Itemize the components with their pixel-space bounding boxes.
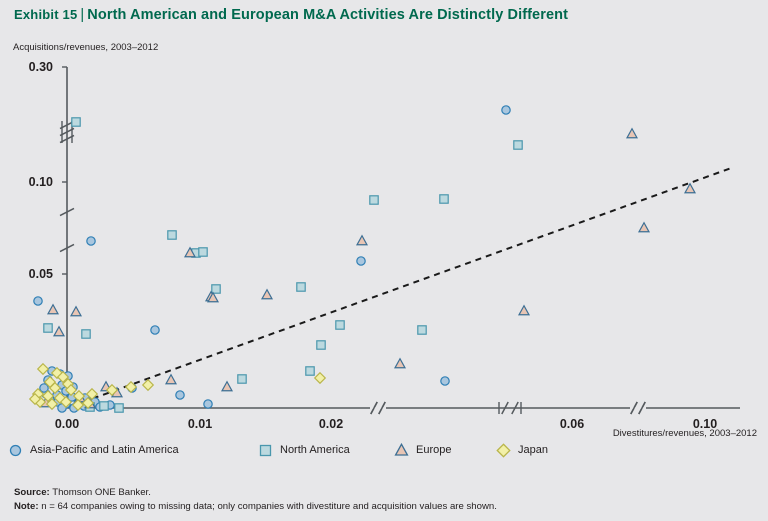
legend-item-northamerica[interactable]: North America xyxy=(258,443,350,458)
legend-marker-circle-icon xyxy=(8,443,23,458)
data-point xyxy=(199,248,207,256)
trendline xyxy=(72,167,734,406)
data-point xyxy=(502,106,510,114)
data-point xyxy=(176,391,184,399)
data-point xyxy=(34,297,42,305)
data-point xyxy=(143,380,154,391)
data-point xyxy=(71,307,81,316)
data-point xyxy=(519,306,529,315)
footnotes: Source: Thomson ONE Banker. Note: n = 64… xyxy=(14,486,497,513)
data-point xyxy=(222,382,232,391)
series-square xyxy=(44,118,522,412)
data-point xyxy=(306,367,314,375)
legend-item-asia[interactable]: Asia-Pacific and Latin America xyxy=(8,443,179,458)
legend-item-europe[interactable]: Europe xyxy=(394,443,451,458)
data-point xyxy=(315,373,326,384)
legend-label: Japan xyxy=(518,445,548,456)
data-point xyxy=(440,195,448,203)
data-point xyxy=(151,326,159,334)
x-axis-break xyxy=(630,402,646,414)
data-point xyxy=(72,118,80,126)
data-point xyxy=(514,141,522,149)
y-tick-label: 0.05 xyxy=(29,267,53,281)
series-triangle xyxy=(41,129,695,408)
data-point xyxy=(48,305,58,314)
data-point xyxy=(100,402,108,410)
data-point xyxy=(395,359,405,368)
data-point xyxy=(115,404,123,412)
x-axis-break xyxy=(370,402,386,414)
legend-label: Europe xyxy=(416,445,451,456)
data-point xyxy=(441,377,449,385)
data-point xyxy=(54,327,64,336)
x-tick-label: 0.00 xyxy=(55,417,79,431)
source-label: Source: xyxy=(14,487,50,498)
data-point xyxy=(639,223,649,232)
x-tick-label: 0.10 xyxy=(693,417,717,431)
data-point xyxy=(418,326,426,334)
legend-label: North America xyxy=(280,445,350,456)
note-label: Note: xyxy=(14,501,39,512)
data-point xyxy=(44,324,52,332)
y-tick-label: 0.30 xyxy=(29,60,53,74)
data-point xyxy=(357,236,367,245)
legend-marker-triangle-icon xyxy=(394,443,409,458)
data-point xyxy=(38,364,49,375)
legend-marker-square-icon xyxy=(258,443,273,458)
x-tick-label: 0.06 xyxy=(560,417,584,431)
data-point xyxy=(627,129,637,138)
y-tick-label: 0.10 xyxy=(29,175,53,189)
legend-marker-diamond-icon xyxy=(496,443,511,458)
data-point xyxy=(82,330,90,338)
data-point xyxy=(336,321,344,329)
source-line: Source: Thomson ONE Banker. xyxy=(14,486,497,500)
data-point xyxy=(204,400,212,408)
note-text: n = 64 companies owing to missing data; … xyxy=(41,501,497,512)
data-point xyxy=(262,290,272,299)
series-diamond xyxy=(30,364,326,411)
data-point xyxy=(166,375,176,384)
data-point xyxy=(297,283,305,291)
data-point xyxy=(317,341,325,349)
legend-label: Asia-Pacific and Latin America xyxy=(30,445,179,456)
series-circle xyxy=(34,106,510,412)
data-point xyxy=(370,196,378,204)
data-point xyxy=(357,257,365,265)
data-point xyxy=(40,384,48,392)
data-point xyxy=(238,375,246,383)
data-point xyxy=(168,231,176,239)
x-tick-label: 0.02 xyxy=(319,417,343,431)
legend-item-japan[interactable]: Japan xyxy=(496,443,548,458)
data-point xyxy=(87,237,95,245)
chart-legend: Asia-Pacific and Latin AmericaNorth Amer… xyxy=(8,443,608,465)
note-line: Note: n = 64 companies owing to missing … xyxy=(14,500,497,514)
x-tick-label: 0.01 xyxy=(188,417,212,431)
source-text: Thomson ONE Banker. xyxy=(52,487,151,498)
